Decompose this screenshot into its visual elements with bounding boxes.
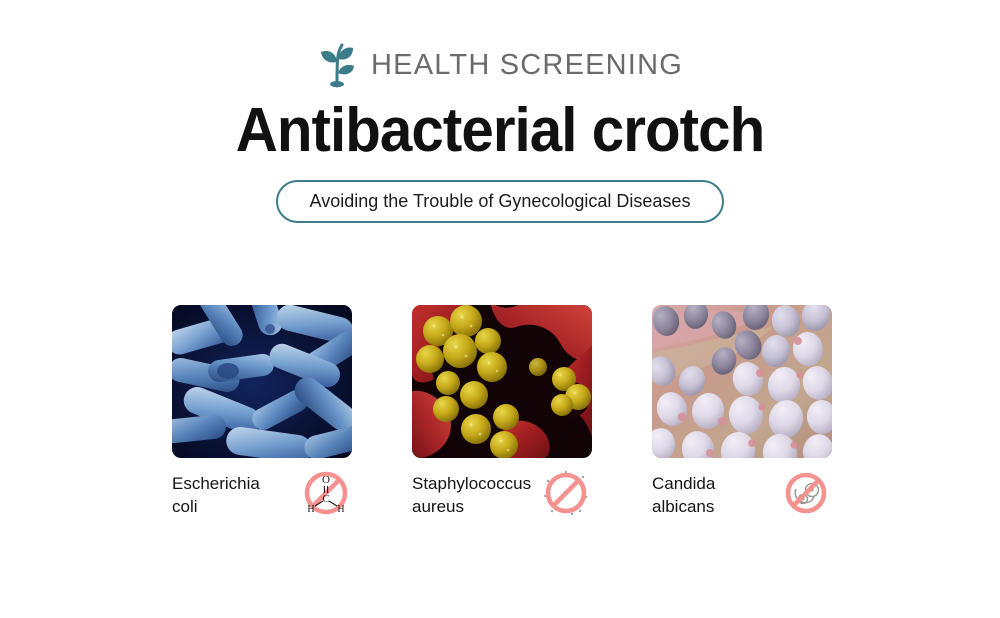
pathogen-card: Candida albicans <box>652 305 832 522</box>
no-germs-icon <box>782 469 830 517</box>
page-title: Antibacterial crotch <box>30 97 970 165</box>
pathogen-label-line1: Candida <box>652 472 715 495</box>
pathogen-label: Escherichia coli <box>172 468 260 519</box>
pathogen-label-line2: coli <box>172 495 260 518</box>
pathogen-card-list: Escherichia coli O C H H <box>172 305 832 522</box>
svg-text:H: H <box>337 504 344 515</box>
subtitle-container: Avoiding the Trouble of Gynecological Di… <box>0 180 1000 223</box>
pathogen-label-line1: Escherichia <box>172 472 260 495</box>
pathogen-label-line2: aureus <box>412 495 531 518</box>
card-footer: Candida albicans <box>652 468 832 522</box>
brand-header: HEALTH SCREENING <box>0 42 1000 88</box>
escherichia-coli-micrograph <box>172 305 352 458</box>
no-formaldehyde-icon: O C H H <box>302 469 350 517</box>
pathogen-label-line2: albicans <box>652 495 715 518</box>
brand-name: HEALTH SCREENING <box>371 51 683 80</box>
no-bacteria-icon <box>542 469 590 517</box>
candida-albicans-micrograph <box>652 305 832 458</box>
card-footer: Staphylococcus aureus <box>412 468 592 522</box>
svg-text:C: C <box>322 493 329 505</box>
pathogen-card: Escherichia coli O C H H <box>172 305 352 522</box>
pathogen-card: Staphylococcus aureus <box>412 305 592 522</box>
sprout-icon <box>317 42 357 88</box>
svg-text:O: O <box>322 474 330 486</box>
pathogen-label-line1: Staphylococcus <box>412 472 531 495</box>
svg-text:H: H <box>307 504 314 515</box>
pathogen-label: Staphylococcus aureus <box>412 468 531 519</box>
pathogen-label: Candida albicans <box>652 468 715 519</box>
subtitle-pill: Avoiding the Trouble of Gynecological Di… <box>276 180 725 223</box>
staphylococcus-aureus-micrograph <box>412 305 592 458</box>
card-footer: Escherichia coli O C H H <box>172 468 352 522</box>
